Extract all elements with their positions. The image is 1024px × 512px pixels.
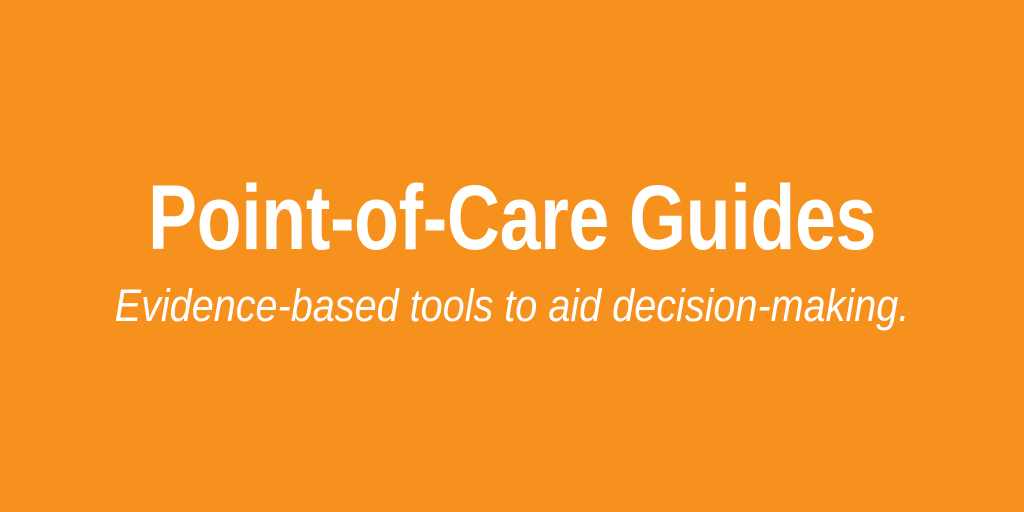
page-title: Point-of-Care Guides	[102, 176, 921, 261]
banner-text-block: Point-of-Care Guides Evidence-based tool…	[0, 176, 1024, 328]
page-subtitle: Evidence-based tools to aid decision-mak…	[61, 283, 962, 328]
point-of-care-guides-banner: Point-of-Care Guides Evidence-based tool…	[0, 0, 1024, 512]
